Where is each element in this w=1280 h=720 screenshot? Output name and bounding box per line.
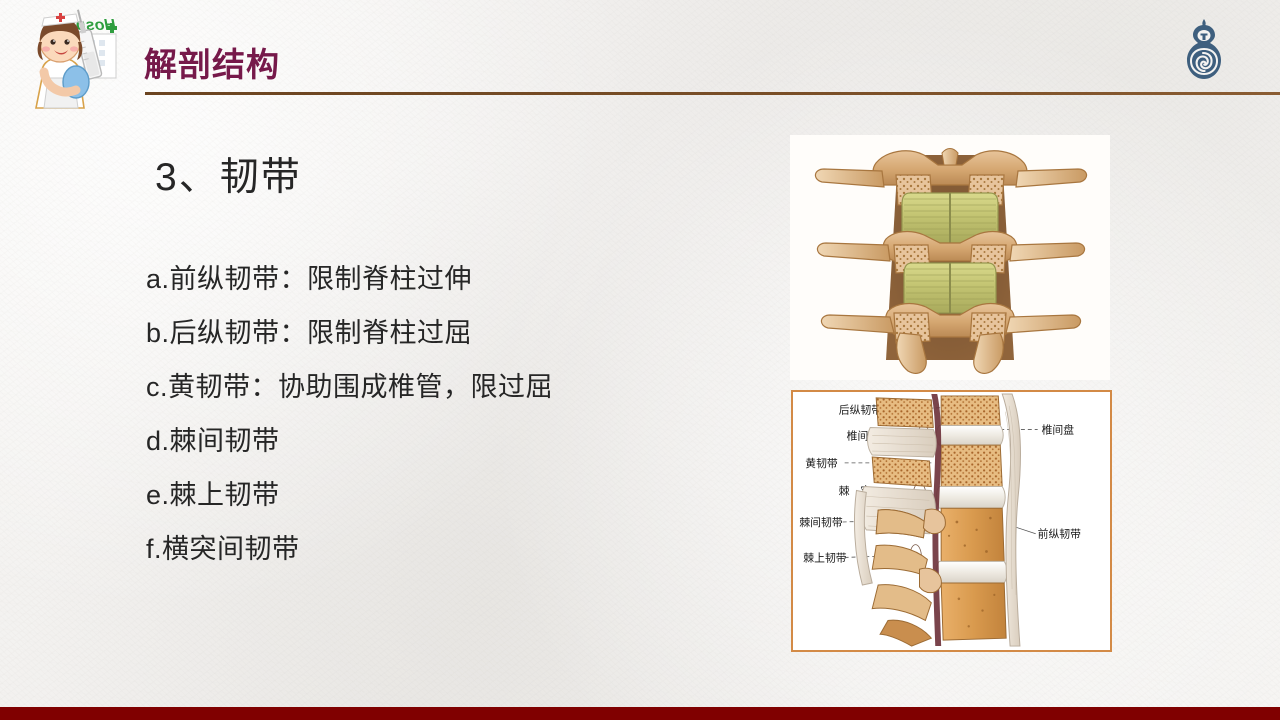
vertebrae-posterior-figure — [790, 135, 1110, 380]
ligament-list: a.前纵韧带：限制脊柱过伸 b.后纵韧带：限制脊柱过屈 c.黄韧带：协助围成椎管… — [146, 252, 746, 576]
figure-label: 棘间韧带 — [799, 516, 842, 529]
figure-label: 棘上韧带 — [803, 551, 846, 564]
figure-label: 黄韧带 — [805, 456, 838, 470]
figure-label: 前纵韧带 — [1038, 527, 1081, 541]
gourd-logo-icon — [1180, 18, 1228, 80]
list-item: d.棘间韧带 — [146, 414, 746, 468]
list-item: f.横突间韧带 — [146, 522, 746, 576]
footer-bar — [0, 707, 1280, 720]
list-item: b.后纵韧带：限制脊柱过屈 — [146, 306, 746, 360]
page-title: 解剖结构 — [144, 38, 280, 86]
list-item: a.前纵韧带：限制脊柱过伸 — [146, 252, 746, 306]
header-divider — [145, 92, 1280, 95]
list-item: c.黄韧带：协助围成椎管，限过屈 — [146, 360, 746, 414]
sagittal-spine-figure: 后纵韧带 椎间孔 黄韧带 棘 突 棘间韧带 棘上韧带 椎间盘 前纵韧带 — [791, 390, 1112, 652]
section-heading: 3、韧带 — [155, 146, 302, 202]
figure-label: 椎间盘 — [1042, 422, 1075, 436]
slide-canvas: Hospital — [0, 0, 1280, 720]
nurse-mascot-icon: Hospital — [12, 4, 130, 116]
list-item: e.棘上韧带 — [146, 468, 746, 522]
figure-label: 后纵韧带 — [839, 404, 882, 417]
